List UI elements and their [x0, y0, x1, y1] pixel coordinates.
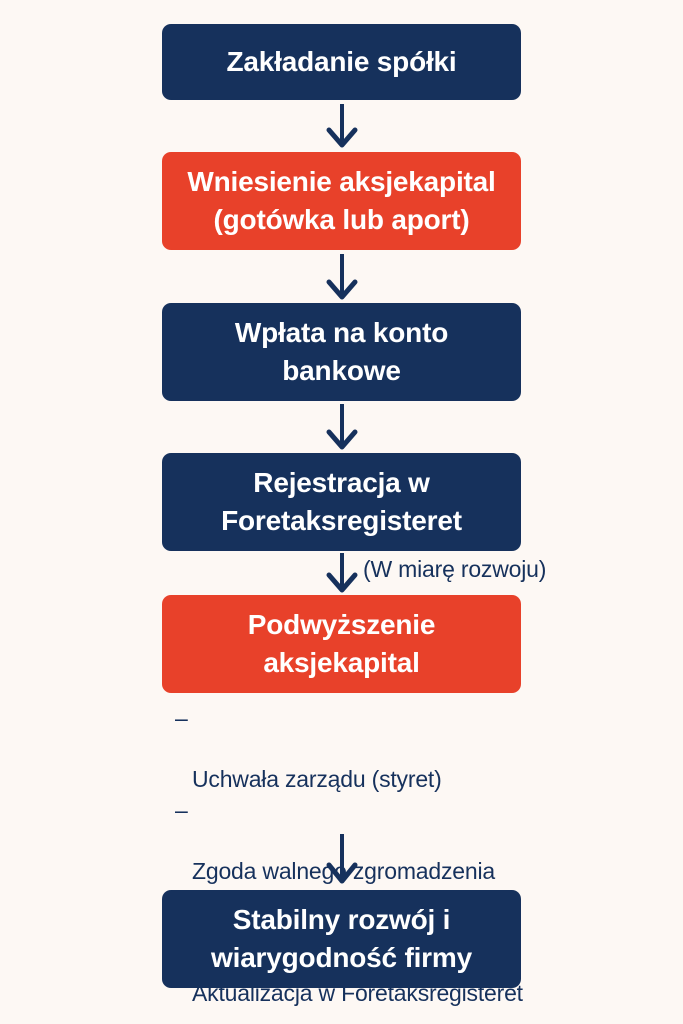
flow-node-label: Zakładanie spółki: [176, 43, 507, 81]
flowchart-diagram: Zakładanie spółki Wniesienie aksjekapita…: [0, 0, 683, 1024]
flow-node-label: Podwyższenie aksjekapital: [176, 606, 507, 681]
flow-annotation-w-miare-rozwoju: (W miarę rozwoju): [363, 556, 546, 583]
flow-node-podwyzszenie-aksjekapital: Podwyższenie aksjekapital: [162, 595, 521, 693]
flow-node-label: Rejestracja w Foretaksregisteret: [176, 464, 507, 539]
arrow-down-icon: [325, 404, 359, 450]
flow-node-rejestracja-w-foretaksregisteret: Rejestracja w Foretaksregisteret: [162, 453, 521, 551]
flow-node-stabilny-rozwoj: Stabilny rozwój i wiarygodność firmy: [162, 890, 521, 988]
arrow-down-icon: [325, 834, 359, 884]
flow-node-label: Wniesienie aksjekapital (gotówka lub apo…: [176, 163, 507, 238]
dash-bullet-icon: –: [175, 703, 188, 734]
dash-bullet-icon: –: [175, 795, 188, 826]
flow-node-wniesienie-aksjekapital: Wniesienie aksjekapital (gotówka lub apo…: [162, 152, 521, 250]
flow-node-label: Stabilny rozwój i wiarygodność firmy: [176, 901, 507, 976]
flow-annotation-label: (W miarę rozwoju): [363, 556, 546, 582]
arrow-down-icon: [325, 104, 359, 148]
flow-node-wplata-na-konto-bankowe: Wpłata na konto bankowe: [162, 303, 521, 401]
flow-node-zakladanie-spolki: Zakładanie spółki: [162, 24, 521, 100]
arrow-down-icon: [325, 553, 359, 593]
flow-node-label: Wpłata na konto bankowe: [176, 314, 507, 389]
list-item-label: Uchwała zarządu (styret): [192, 766, 442, 792]
list-item: – Uchwała zarządu (styret): [175, 703, 615, 795]
arrow-down-icon: [325, 254, 359, 300]
